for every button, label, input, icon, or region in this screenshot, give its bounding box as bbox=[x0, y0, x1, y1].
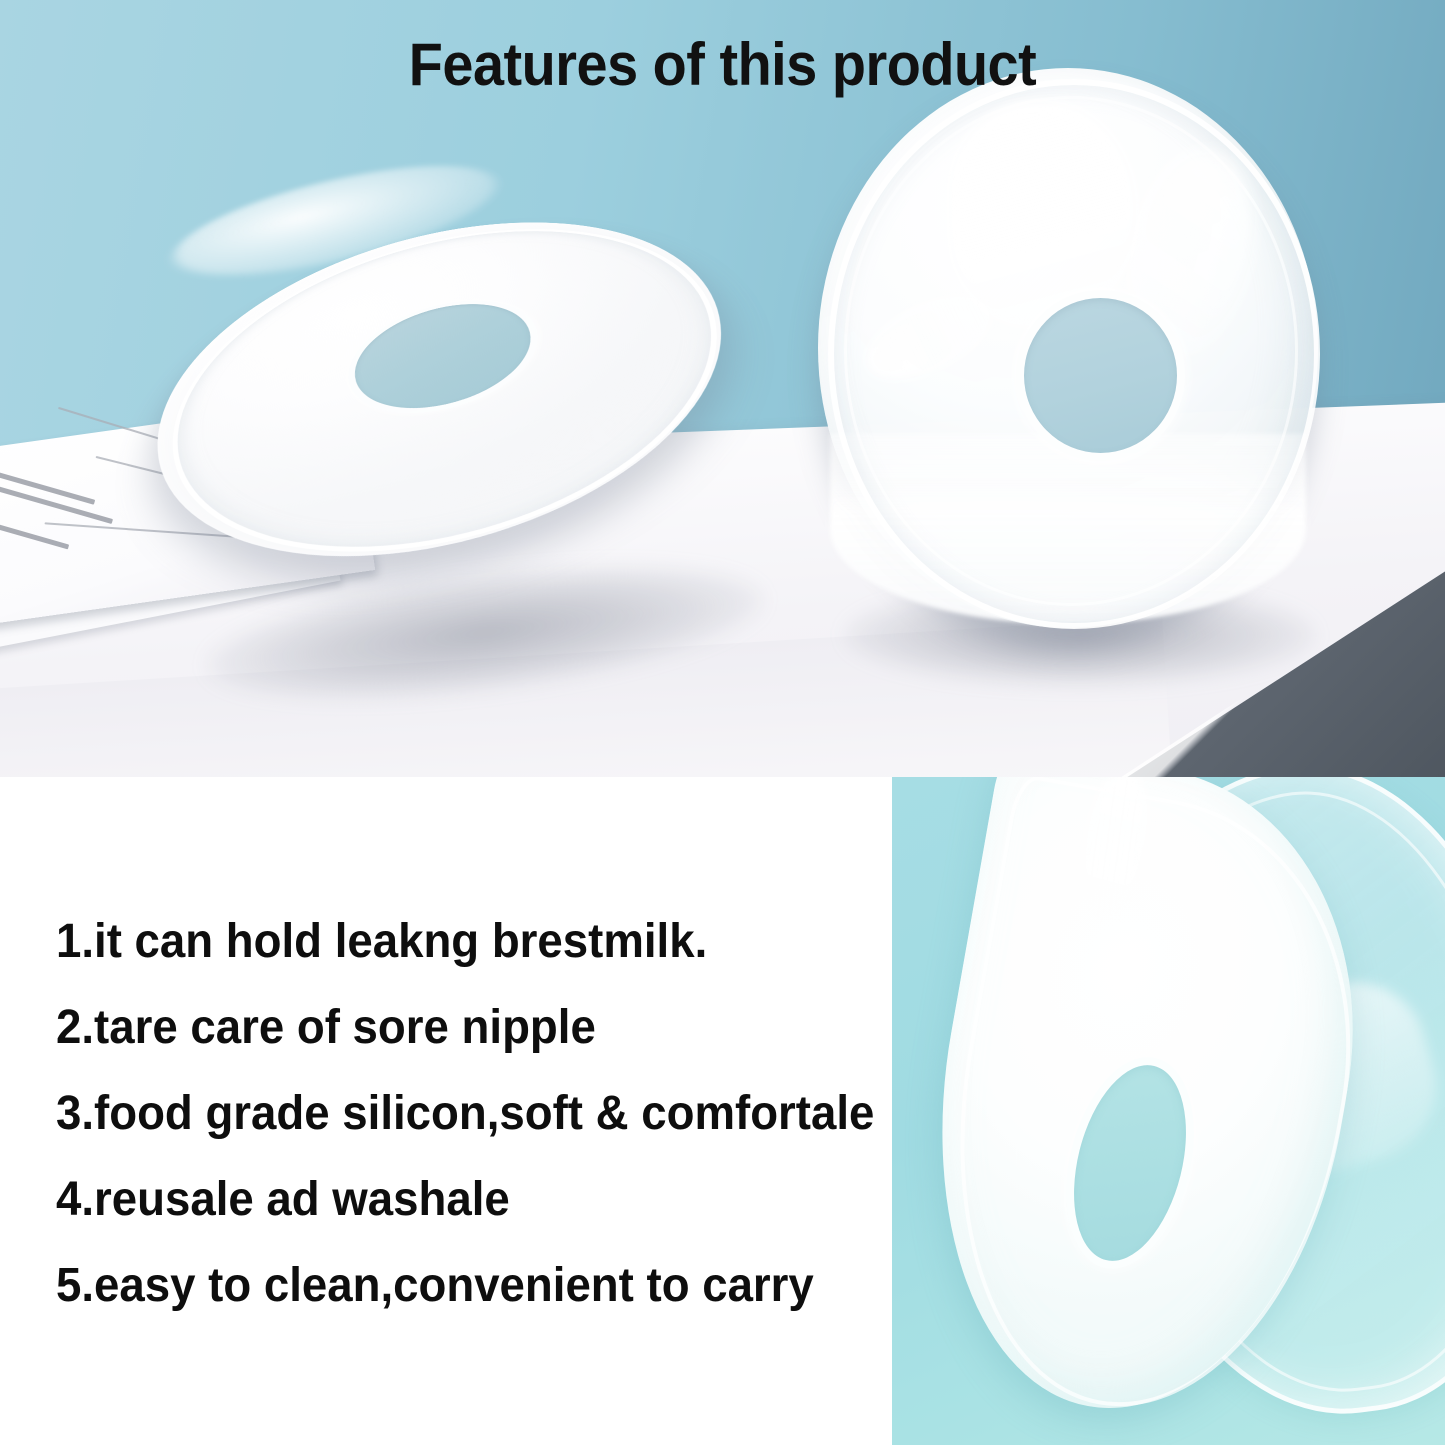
list-item: 3.food grade silicon,soft & comfortale bbox=[56, 1071, 873, 1157]
list-item: 2.tare care of sore nipple bbox=[56, 985, 873, 1071]
list-item: 1.it can hold leakng brestmilk. bbox=[56, 899, 873, 985]
features-panel: 1.it can hold leakng brestmilk. 2.tare c… bbox=[0, 777, 1445, 1445]
shell-nipple-opening-right bbox=[1016, 290, 1185, 461]
list-item: 5.easy to clean,convenient to carry bbox=[56, 1243, 873, 1329]
teardrop-insert-photo-panel bbox=[892, 777, 1445, 1445]
top-product-photo-panel: Features of this product bbox=[0, 0, 1445, 777]
feature-list: 1.it can hold leakng brestmilk. 2.tare c… bbox=[56, 899, 916, 1329]
breast-shell-front bbox=[818, 68, 1318, 628]
list-item: 4.reusale ad washale bbox=[56, 1157, 873, 1243]
product-feature-infographic: Features of this product 1.it can hold l… bbox=[0, 0, 1445, 1445]
page-title: Features of this product bbox=[51, 30, 1395, 99]
